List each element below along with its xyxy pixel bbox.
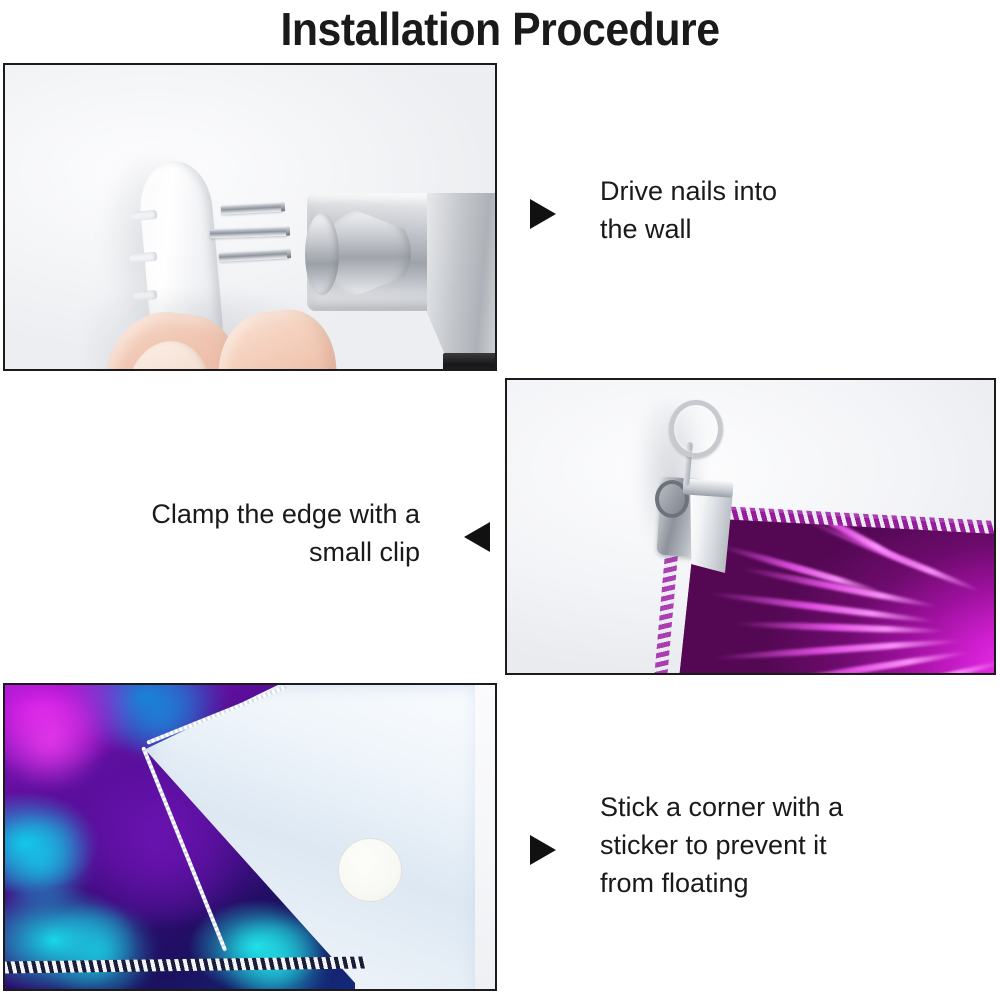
triangle-right-icon bbox=[530, 199, 556, 229]
hammer-shaft bbox=[427, 193, 497, 359]
step-1-image bbox=[3, 63, 497, 371]
clip-ring-icon bbox=[669, 400, 723, 458]
step-1-text: Drive nails into the wall bbox=[600, 172, 950, 248]
step-2-image bbox=[505, 378, 996, 675]
triangle-left-icon bbox=[464, 522, 490, 552]
hammer-face bbox=[305, 213, 339, 295]
step-2-caption: Clamp the edge with a small clip bbox=[40, 495, 490, 571]
round-sticker bbox=[338, 838, 402, 902]
clip-jaw-top bbox=[683, 478, 734, 497]
step-1-caption: Drive nails into the wall bbox=[530, 172, 950, 248]
step-2-text: Clamp the edge with a small clip bbox=[40, 495, 420, 571]
step-3-image bbox=[3, 683, 497, 991]
hammer-collar bbox=[443, 353, 497, 371]
step-3-text: Stick a corner with a sticker to prevent… bbox=[600, 788, 960, 902]
page-title: Installation Procedure bbox=[35, 2, 965, 56]
step-3-caption: Stick a corner with a sticker to prevent… bbox=[530, 788, 960, 902]
triangle-right-icon bbox=[530, 835, 556, 865]
